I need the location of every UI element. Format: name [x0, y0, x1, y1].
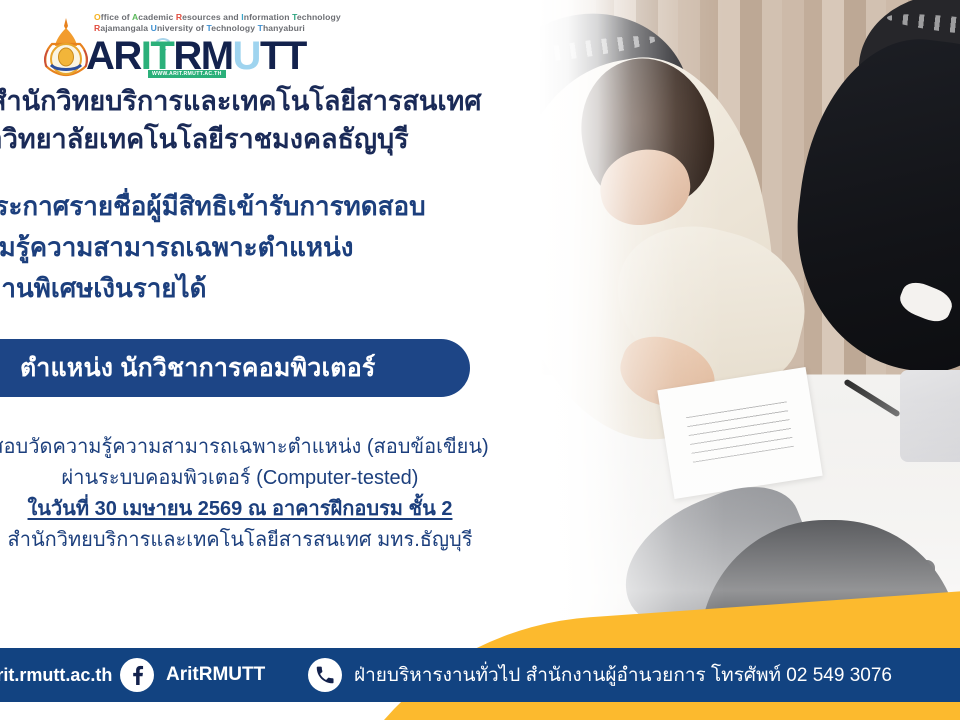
logo-english-line2: Rajamangala University of Technology Tha…: [94, 23, 370, 34]
footer-phone[interactable]: ฝ่ายบริหารงานทั่วไป สำนักงานผู้อำนวยการ …: [308, 648, 892, 702]
exam-details: สอบวัดความรู้ความสามารถเฉพาะตำแหน่ง (สอบ…: [0, 432, 500, 556]
position-pill-badge: ตำแหน่ง นักวิชาการคอมพิวเตอร์: [0, 339, 470, 397]
logo-english-line1: Office of Academic Resources and Informa…: [94, 12, 370, 23]
org-title-line2: มหาวิทยาลัยเทคโนโลยีราชมงคลธัญบุรี: [0, 120, 530, 158]
footer-facebook[interactable]: AritRMUTT: [120, 648, 265, 702]
announcement-line2: ความรู้ความสามารถเฉพาะตำแหน่ง: [0, 227, 538, 268]
facebook-label[interactable]: AritRMUTT: [166, 664, 265, 686]
detail-line3-date: ในวันที่ 30 เมษายน 2569 ณ อาคารฝึกอบรม ช…: [0, 494, 500, 525]
announcement-line1: ประกาศรายชื่อผู้มีสิทธิเข้ารับการทดสอบ: [0, 186, 538, 227]
detail-line4-venue: สำนักวิทยบริการและเทคโนโลยีสารสนเทศ มทร.…: [0, 525, 500, 556]
detail-line1: สอบวัดความรู้ความสามารถเฉพาะตำแหน่ง (สอบ…: [0, 432, 500, 463]
facebook-icon[interactable]: [120, 658, 154, 692]
announcement-heading: ประกาศรายชื่อผู้มีสิทธิเข้ารับการทดสอบ ค…: [0, 186, 538, 309]
contact-footer-bar: www.arit.rmutt.ac.th AritRMUTT ฝ่ายบริหา…: [0, 648, 960, 702]
org-title-line1: สำนักวิทยบริการและเทคโนโลยีสารสนเทศ: [0, 82, 530, 120]
position-pill-label: ตำแหน่ง นักวิชาการคอมพิวเตอร์: [20, 348, 376, 388]
footer-website[interactable]: www.arit.rmutt.ac.th: [0, 648, 112, 702]
poster-canvas: Office of Academic Resources and Informa…: [0, 0, 960, 720]
phone-label[interactable]: ฝ่ายบริหารงานทั่วไป สำนักงานผู้อำนวยการ …: [354, 660, 892, 690]
arit-rmutt-logo: Office of Academic Resources and Informa…: [38, 12, 368, 84]
organisation-title: สำนักวิทยบริการและเทคโนโลยีสารสนเทศ มหาว…: [0, 82, 530, 158]
phone-icon[interactable]: [308, 658, 342, 692]
detail-line2: ผ่านระบบคอมพิวเตอร์ (Computer-tested): [0, 463, 500, 494]
logo-english-text: Office of Academic Resources and Informa…: [94, 12, 370, 33]
announcement-line3: พนักงานพิเศษเงินรายได้: [0, 268, 538, 309]
logo-url-badge: WWW.ARIT.RMUTT.AC.TH: [148, 70, 226, 78]
